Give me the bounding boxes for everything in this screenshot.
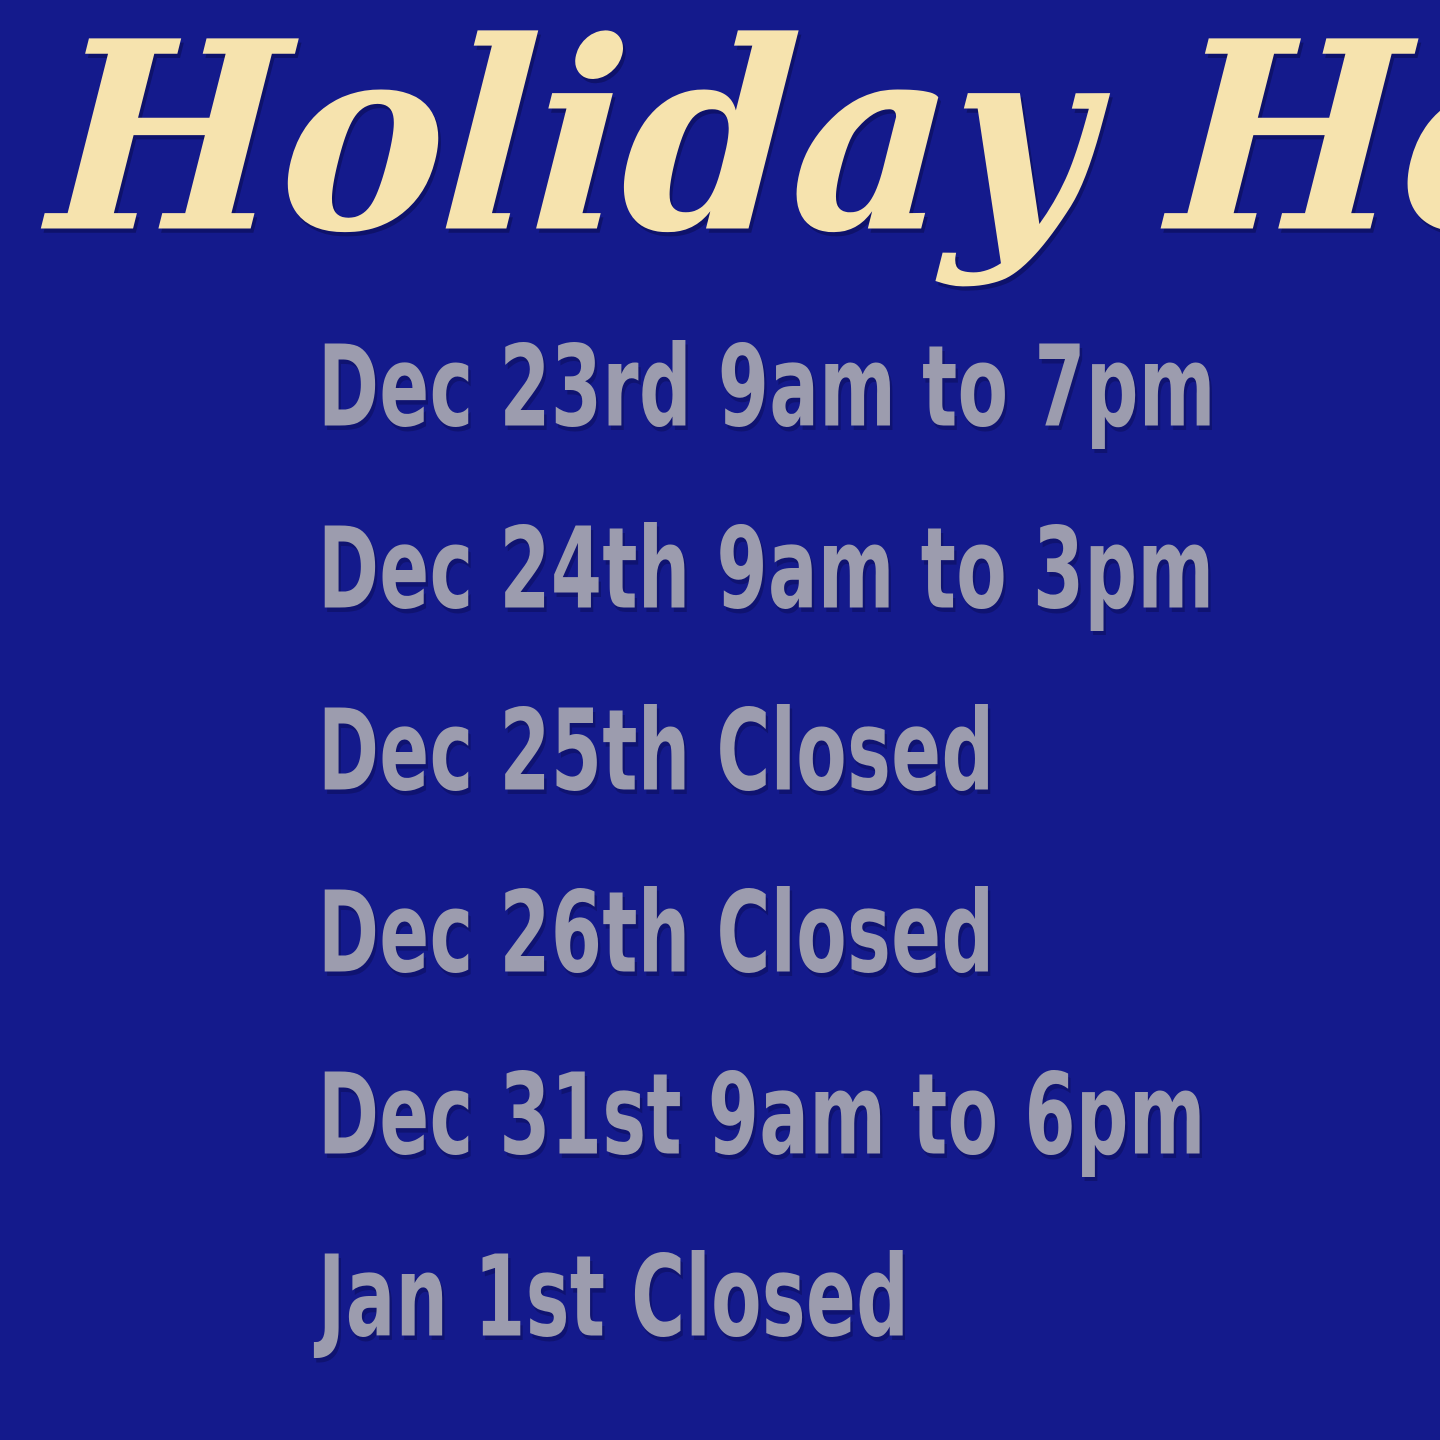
hours-row-text: Dec 31st 9am to 6pm xyxy=(318,1060,1206,1172)
page-title: Holiday Hours xyxy=(44,8,1440,269)
hours-row-text: Dec 26th Closed xyxy=(318,878,994,990)
holiday-hours-poster: Holiday Hours Dec 23rd 9am to 7pm Dec 24… xyxy=(0,0,1440,1440)
list-item: Dec 31st 9am to 6pm xyxy=(318,1060,1378,1242)
list-item: Jan 1st Closed xyxy=(318,1242,1378,1424)
hours-list: Dec 23rd 9am to 7pm Dec 24th 9am to 3pm … xyxy=(318,332,1378,1424)
list-item: Dec 26th Closed xyxy=(318,878,1378,1060)
hours-row-text: Jan 1st Closed xyxy=(318,1242,909,1354)
list-item: Dec 25th Closed xyxy=(318,696,1378,878)
title-block: Holiday Hours xyxy=(0,0,1440,300)
hours-row-text: Dec 25th Closed xyxy=(318,696,994,808)
hours-row-text: Dec 23rd 9am to 7pm xyxy=(318,332,1216,444)
list-item: Dec 23rd 9am to 7pm xyxy=(318,332,1378,514)
list-item: Dec 24th 9am to 3pm xyxy=(318,514,1378,696)
hours-row-text: Dec 24th 9am to 3pm xyxy=(318,514,1214,626)
